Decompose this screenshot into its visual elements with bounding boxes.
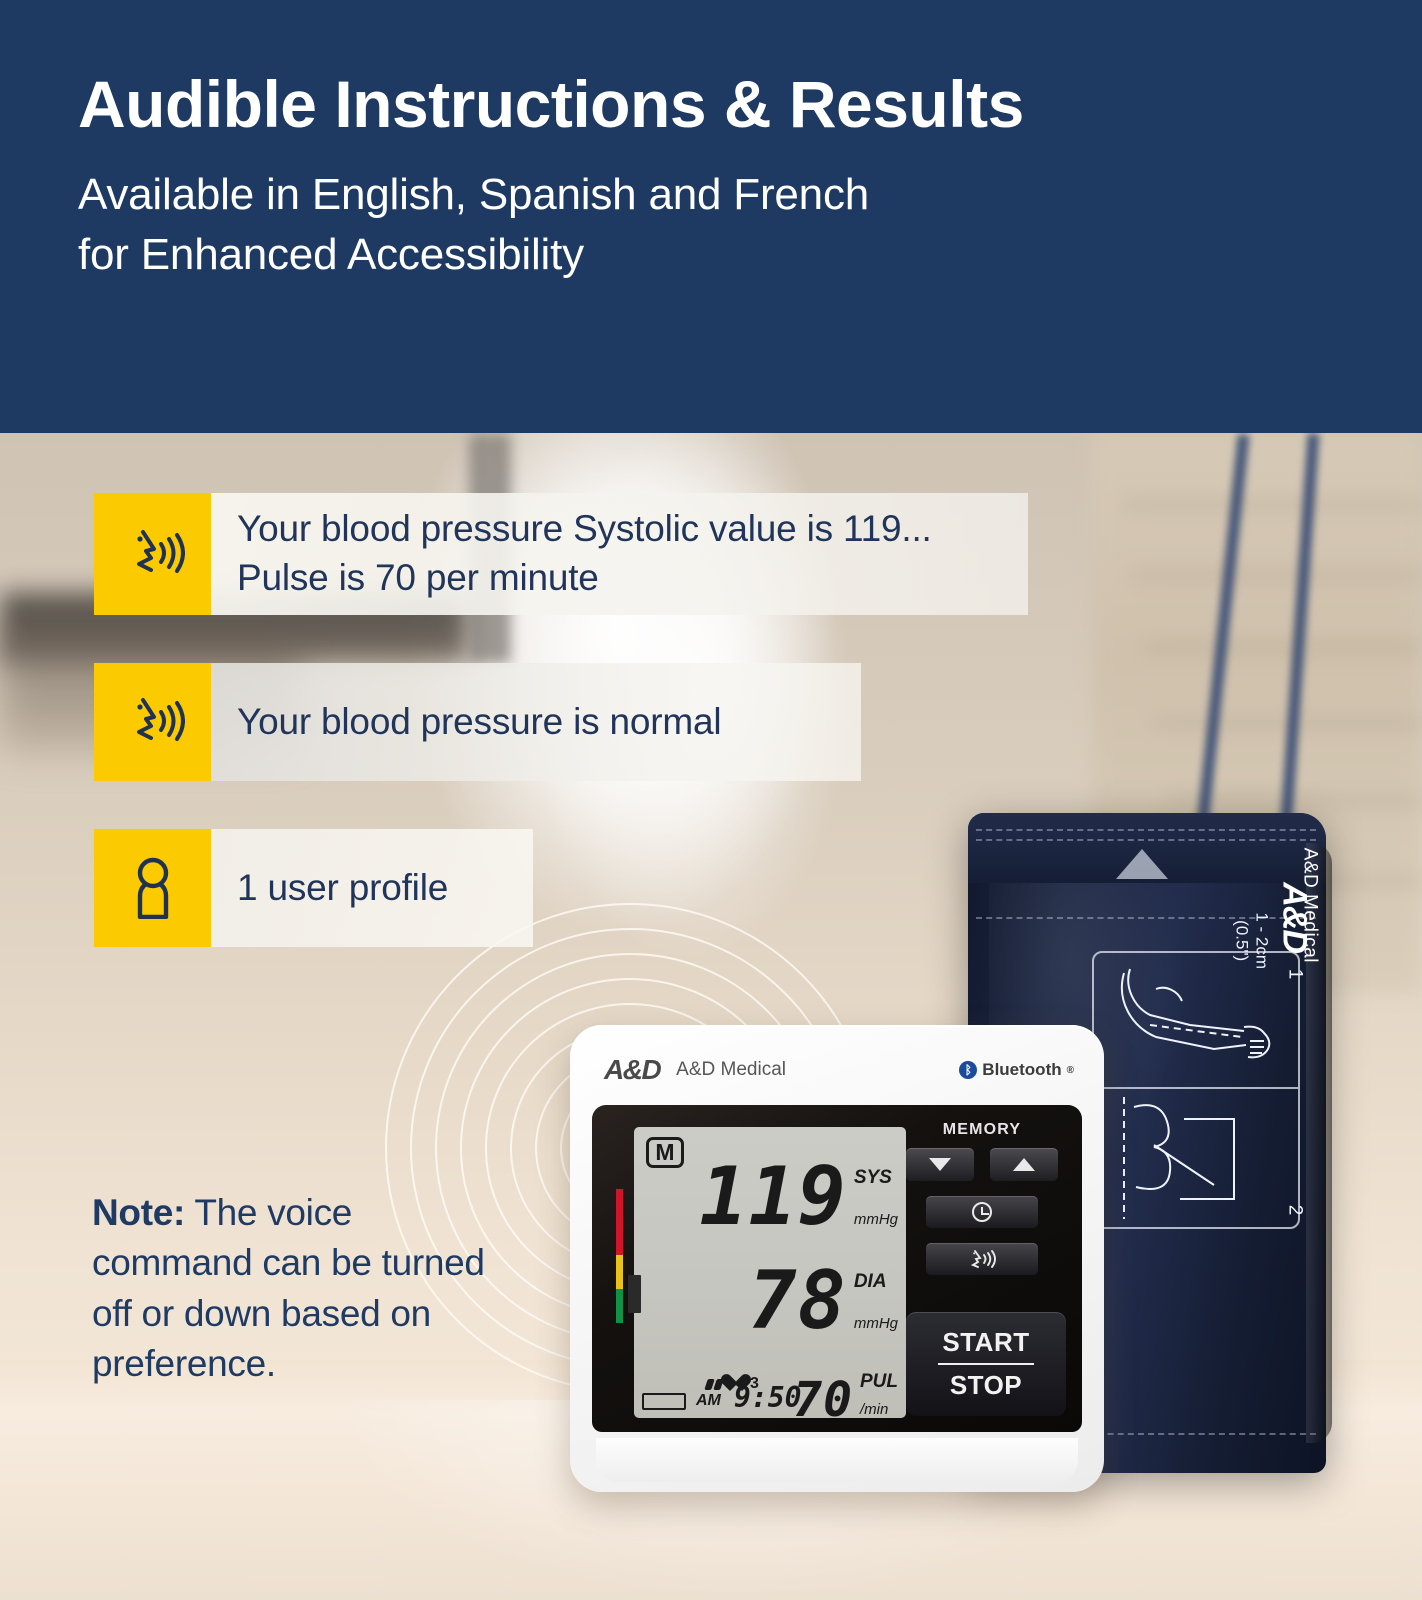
pulse-value: 70 [793, 1380, 853, 1420]
voice-button[interactable] [926, 1243, 1038, 1275]
diastolic-label: DIA [854, 1271, 887, 1293]
page-title: Audible Instructions & Results [78, 70, 1422, 139]
callout-row-normal: Your blood pressure is normal [94, 663, 1028, 781]
callout-text-3: 1 user profile [211, 829, 533, 947]
callout-icon-tile-2 [94, 663, 211, 781]
start-stop-divider [938, 1363, 1034, 1365]
systolic-value: 119 [699, 1163, 847, 1230]
memory-label: MEMORY [898, 1121, 1066, 1139]
blood-pressure-monitor: A&D A&D Medical ᛒ Bluetooth ® M 119 [570, 1025, 1104, 1492]
user-profile-icon [127, 857, 179, 919]
bp-bar-yellow-segment [616, 1255, 623, 1289]
feature-callout-list: Your blood pressure Systolic value is 11… [94, 493, 1028, 995]
speaking-head-icon [121, 526, 185, 582]
clock-button[interactable] [926, 1196, 1038, 1228]
header-banner: Audible Instructions & Results Available… [0, 0, 1422, 433]
pulse-label: PUL [860, 1371, 898, 1393]
header-subtitle-line-2: for Enhanced Accessibility [78, 225, 1422, 284]
callout-text-1: Your blood pressure Systolic value is 11… [211, 493, 1028, 615]
diastolic-unit: mmHg [854, 1315, 898, 1332]
speaking-head-icon [121, 694, 185, 750]
battery-icon [642, 1393, 686, 1410]
cuff-measurement-label: 1 - 2cm (0.5") [1233, 912, 1272, 969]
pulse-row: 70 PUL /min [793, 1371, 898, 1420]
start-stop-button[interactable]: START STOP [906, 1312, 1066, 1416]
systolic-row: 119 SYS mmHg [699, 1163, 898, 1230]
bluetooth-label: Bluetooth [982, 1060, 1061, 1080]
voice-icon [967, 1248, 997, 1270]
device-brand-row: A&D A&D Medical ᛒ Bluetooth ® [604, 1053, 1074, 1087]
memory-indicator-badge: M [646, 1137, 684, 1168]
note-block: Note: The voice command can be turned of… [92, 1188, 512, 1389]
bp-bar-green-segment [616, 1289, 623, 1323]
callout-text-2: Your blood pressure is normal [211, 663, 861, 781]
device-button-panel: MEMORY [898, 1121, 1066, 1422]
header-subtitle: Available in English, Spanish and French… [78, 165, 1422, 284]
note-label: Note: [92, 1192, 185, 1233]
device-brand-logo: A&D [604, 1054, 660, 1086]
clock-icon [972, 1202, 992, 1222]
device-base-lip [596, 1438, 1078, 1482]
start-label: START [942, 1327, 1029, 1358]
diastolic-row: 78 DIA mmHg [749, 1267, 899, 1334]
bluetooth-icon: ᛒ [959, 1061, 977, 1079]
lcd-display: M 119 SYS mmHg 78 DIA [634, 1127, 906, 1418]
device-brand-name: A&D Medical [676, 1059, 786, 1081]
stop-label: STOP [950, 1370, 1022, 1401]
chevron-down-icon [929, 1158, 951, 1171]
systolic-unit: mmHg [854, 1211, 898, 1228]
diastolic-value: 78 [749, 1267, 847, 1334]
cuff-step-2-label: 2 [1284, 1205, 1306, 1216]
callout-row-user-profile: 1 user profile [94, 829, 1028, 947]
callout-icon-tile-1 [94, 493, 211, 615]
cuff-alignment-triangle-icon [1116, 849, 1168, 879]
cuff-step-1-label: 1 [1284, 969, 1306, 980]
systolic-label: SYS [854, 1167, 892, 1189]
memory-up-button[interactable] [990, 1148, 1058, 1181]
cuff-brand-name: A&D Medical [1298, 848, 1320, 963]
bluetooth-badge: ᛒ Bluetooth ® [959, 1060, 1074, 1080]
header-subtitle-line-1: Available in English, Spanish and French [78, 165, 1422, 224]
callout-row-systolic: Your blood pressure Systolic value is 11… [94, 493, 1028, 615]
pulse-unit: /min [860, 1401, 888, 1418]
bluetooth-registered-mark: ® [1067, 1065, 1074, 1076]
callout-icon-tile-3 [94, 829, 211, 947]
chevron-up-icon [1013, 1158, 1035, 1171]
cuff-wrap-diagram-icon [1094, 1089, 1300, 1229]
clock-time-value: 9:50 [734, 1381, 801, 1414]
cuff-instruction-diagram: 1 2 1 - 2cm (0.5") [1092, 951, 1300, 1229]
device-face-panel: M 119 SYS mmHg 78 DIA [592, 1105, 1082, 1432]
memory-down-button[interactable] [906, 1148, 974, 1181]
bp-bar-red-segment [616, 1189, 623, 1255]
cuff-arm-diagram-icon [1094, 953, 1300, 1085]
product-photo-scene: 1 2 1 - 2cm (0.5") A&D A&D Medical A&D A… [0, 433, 1422, 1600]
bp-bar-marker [628, 1275, 641, 1313]
bp-classification-bar [616, 1189, 623, 1323]
am-pm-label: AM [696, 1392, 721, 1410]
